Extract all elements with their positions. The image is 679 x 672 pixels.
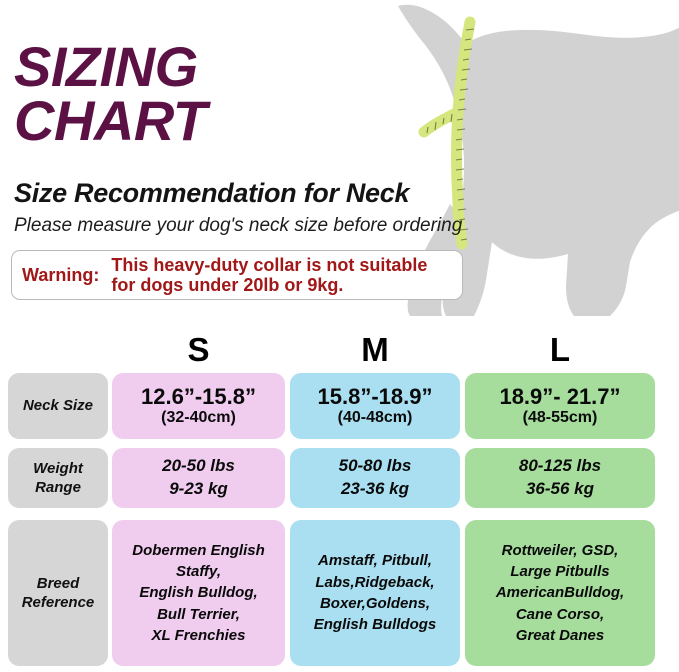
weight-large-kg: 36-56 kg (526, 478, 594, 501)
neck-size-medium-cm: (40-48cm) (338, 409, 413, 427)
cell-breed-large: Rottweiler, GSD, Large Pitbulls American… (465, 520, 655, 666)
size-header-small: S (112, 331, 285, 369)
weight-small-lbs: 20-50 lbs (162, 455, 235, 478)
page-title: SIZING CHART (14, 40, 484, 148)
neck-size-large-inches: 18.9”- 21.7” (499, 385, 620, 409)
table-row-neck-size: Neck Size 12.6”-15.8” (32-40cm) 15.8”-18… (0, 373, 679, 439)
neck-size-small-inches: 12.6”-15.8” (141, 385, 256, 409)
row-label-weight-range: Weight Range (8, 448, 108, 508)
neck-size-medium-inches: 15.8”-18.9” (318, 385, 433, 409)
warning-message: This heavy-duty collar is not suitable f… (111, 255, 452, 295)
warning-box: Warning: This heavy-duty collar is not s… (11, 250, 463, 300)
cell-neck-size-small: 12.6”-15.8” (32-40cm) (112, 373, 285, 439)
table-row-weight-range: Weight Range 20-50 lbs 9-23 kg 50-80 lbs… (0, 448, 679, 508)
breed-small-list: Dobermen English Staffy, English Bulldog… (132, 540, 265, 646)
sizing-chart-page: SIZING CHART Size Recommendation for Nec… (0, 0, 679, 672)
size-header-large: L (465, 331, 655, 369)
cell-weight-medium: 50-80 lbs 23-36 kg (290, 448, 460, 508)
title-line-1: SIZING (14, 40, 484, 94)
table-row-breed-reference: Breed Reference Dobermen English Staffy,… (0, 520, 679, 666)
weight-large-lbs: 80-125 lbs (519, 455, 601, 478)
weight-small-kg: 9-23 kg (169, 478, 228, 501)
weight-medium-kg: 23-36 kg (341, 478, 409, 501)
size-header-row: S M L (0, 331, 679, 371)
row-label-text: Weight Range (12, 459, 104, 498)
cell-weight-large: 80-125 lbs 36-56 kg (465, 448, 655, 508)
row-label-neck-size: Neck Size (8, 373, 108, 439)
cell-breed-medium: Amstaff, Pitbull, Labs,Ridgeback, Boxer,… (290, 520, 460, 666)
warning-label: Warning: (22, 265, 99, 286)
size-header-medium: M (290, 331, 460, 369)
instruction-text: Please measure your dog's neck size befo… (14, 215, 462, 237)
cell-breed-small: Dobermen English Staffy, English Bulldog… (112, 520, 285, 666)
subtitle: Size Recommendation for Neck (14, 178, 409, 209)
breed-medium-list: Amstaff, Pitbull, Labs,Ridgeback, Boxer,… (314, 550, 437, 635)
weight-medium-lbs: 50-80 lbs (339, 455, 412, 478)
cell-neck-size-medium: 15.8”-18.9” (40-48cm) (290, 373, 460, 439)
breed-large-list: Rottweiler, GSD, Large Pitbulls American… (496, 540, 624, 646)
neck-size-small-cm: (32-40cm) (161, 409, 236, 427)
row-label-breed-reference: Breed Reference (8, 520, 108, 666)
cell-neck-size-large: 18.9”- 21.7” (48-55cm) (465, 373, 655, 439)
row-label-text: Neck Size (23, 396, 93, 416)
neck-size-large-cm: (48-55cm) (523, 409, 598, 427)
row-label-text: Breed Reference (12, 574, 104, 613)
title-line-2: CHART (14, 94, 484, 148)
cell-weight-small: 20-50 lbs 9-23 kg (112, 448, 285, 508)
